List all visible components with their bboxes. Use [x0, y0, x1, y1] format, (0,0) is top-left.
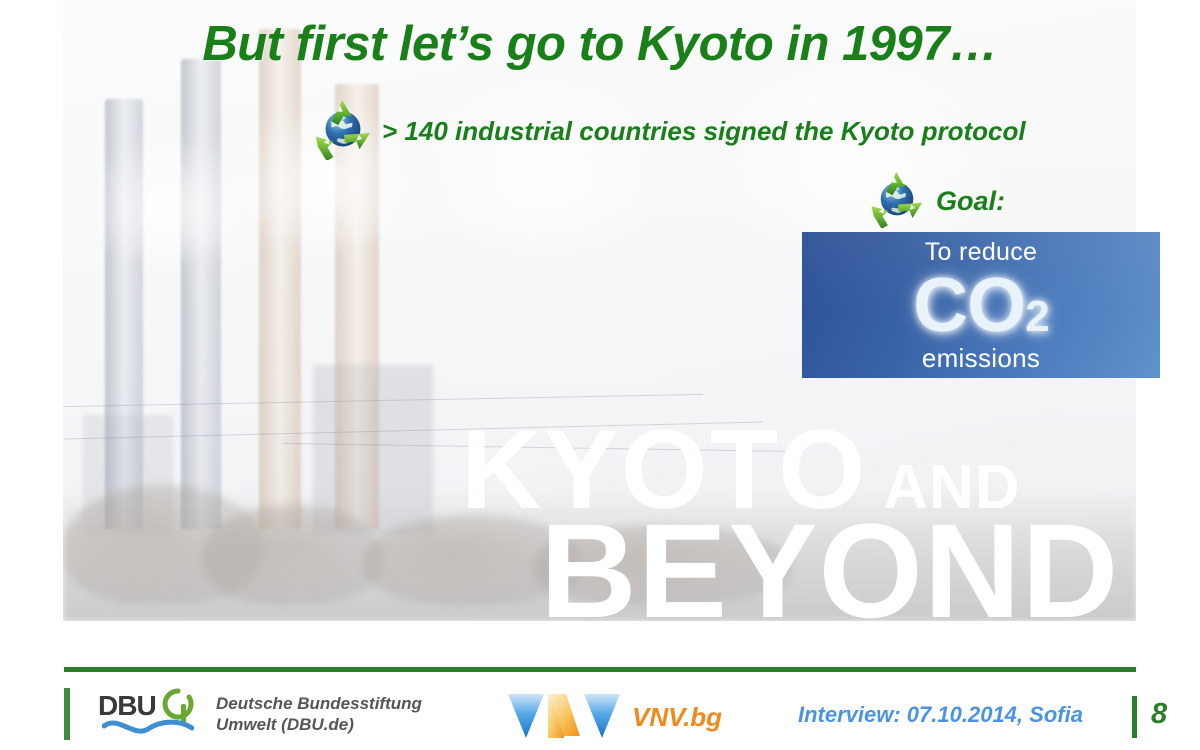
dbu-blue-wave-icon	[102, 718, 194, 743]
recycle-globe-icon	[868, 170, 926, 233]
bullet-row: > 140 industrial countries signed the Ky…	[312, 98, 1026, 165]
recycle-globe-icon	[312, 98, 374, 165]
page-title: But first let’s go to Kyoto in 1997…	[0, 16, 1200, 72]
slide-canvas: KYOTO AND BEYOND But first let’s go to K…	[0, 0, 1200, 750]
photo-foliage	[533, 525, 793, 605]
dbu-logo-mark: DBU	[98, 688, 202, 740]
co2-formula: CO2	[802, 268, 1160, 344]
co2-formula-subscript: 2	[1025, 292, 1048, 341]
co2-bottom-text: emissions	[802, 343, 1160, 374]
dbu-caption-line2: Umwelt (DBU.de)	[216, 714, 422, 735]
goal-row: Goal:	[868, 170, 1005, 233]
dbu-logo-block[interactable]: DBU Deutsche Bundesstiftung Umwelt (DBU.…	[64, 688, 422, 740]
slide-footer: DBU Deutsche Bundesstiftung Umwelt (DBU.…	[0, 680, 1200, 750]
vnv-wordmark: VNV.bg	[632, 702, 722, 733]
vnv-logo-block[interactable]: VNV.bg	[506, 690, 722, 745]
vnv-logo-icon	[506, 690, 624, 745]
photo-foliage	[203, 505, 383, 605]
page-number-divider	[1132, 696, 1137, 738]
dbu-caption: Deutsche Bundesstiftung Umwelt (DBU.de)	[216, 693, 422, 735]
co2-formula-main: CO	[913, 263, 1025, 348]
dbu-caption-line1: Deutsche Bundesstiftung	[216, 693, 422, 714]
photo-smokestack	[181, 59, 221, 529]
bullet-text: > 140 industrial countries signed the Ky…	[382, 116, 1026, 147]
page-number: 8	[1151, 698, 1167, 731]
co2-goal-panel: To reduce CO2 emissions	[802, 232, 1160, 378]
footer-divider	[64, 667, 1136, 672]
goal-label: Goal:	[936, 186, 1005, 217]
dbu-accent-bar	[64, 688, 70, 740]
interview-label: Interview: 07.10.2014, Sofia	[798, 702, 1083, 728]
co2-top-text: To reduce	[802, 238, 1160, 267]
